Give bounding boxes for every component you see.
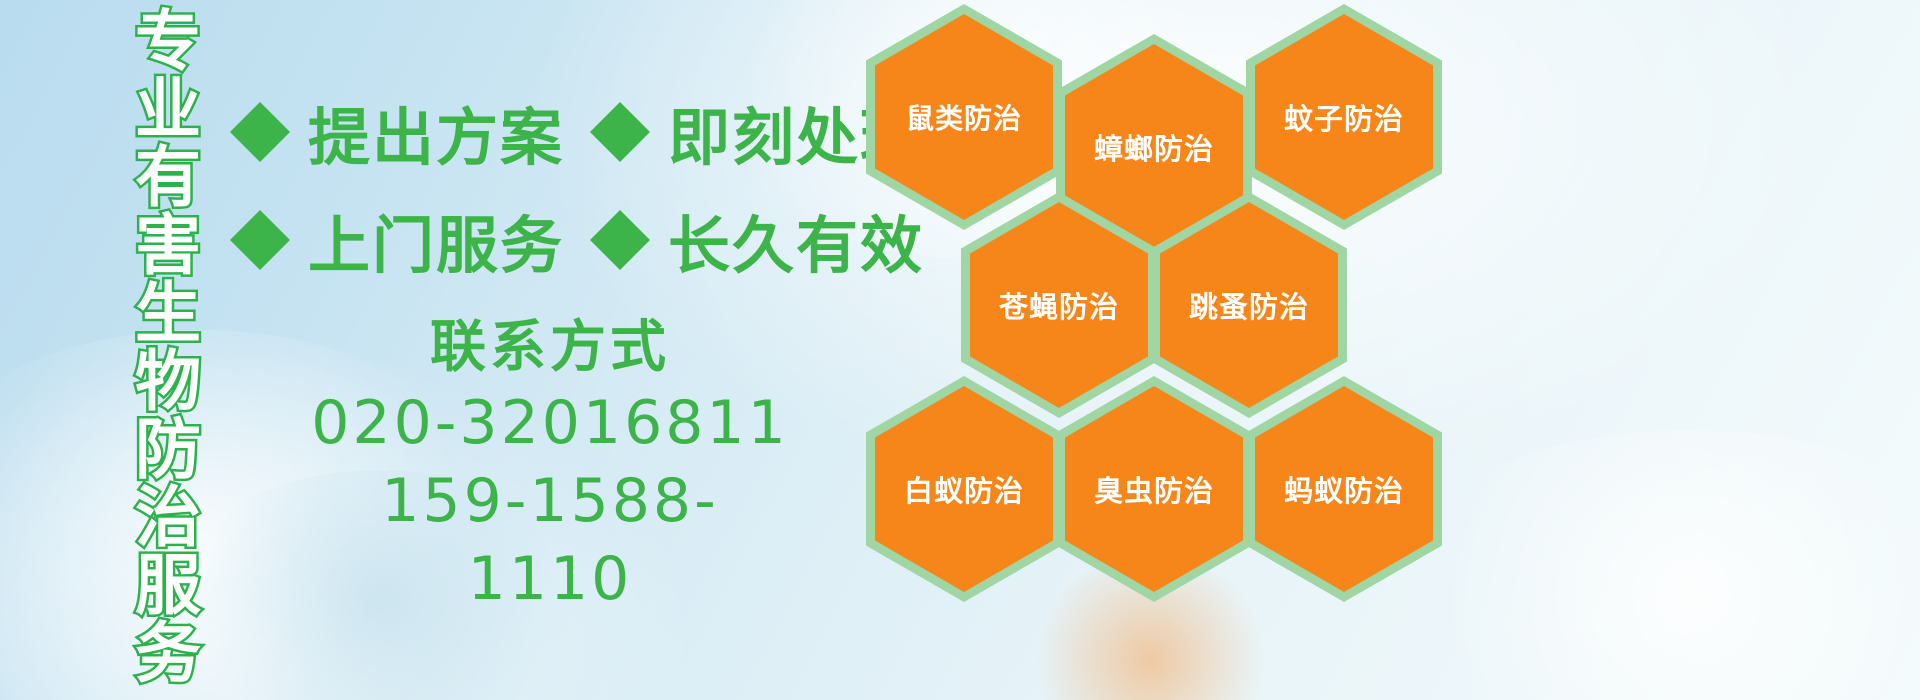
- headline-char: 务: [135, 620, 201, 688]
- hexagon-inner: 跳蚤防治: [1160, 202, 1338, 408]
- feature-label: 上门服务: [308, 195, 564, 285]
- service-hexagon-termite[interactable]: 白蚁防治: [866, 376, 1062, 602]
- contact-block: 联系方式 020-32016811 159-1588-1110: [300, 312, 800, 618]
- service-label: 臭虫防治: [1094, 468, 1214, 510]
- headline-char: 物: [135, 348, 201, 416]
- feature-item-onsite-service: 上门服务: [230, 195, 564, 285]
- headline-char: 治: [135, 484, 201, 552]
- phone-number-landline[interactable]: 020-32016811: [300, 384, 800, 462]
- feature-list: 提出方案 即刻处理 上门服务 长久有效: [230, 78, 924, 294]
- diamond-bullet-icon: [230, 180, 290, 240]
- vertical-headline: 专 业 有 害 生 物 防 治 服 务: [108, 8, 228, 688]
- headline-char: 生: [135, 280, 201, 348]
- phone-number-mobile[interactable]: 159-1588-1110: [300, 462, 800, 618]
- hexagon-inner: 蚊子防治: [1255, 14, 1433, 220]
- diamond-bullet-icon: [590, 72, 650, 132]
- service-label: 鼠类防治: [906, 97, 1022, 137]
- hexagon-inner: 蚂蚁防治: [1255, 386, 1433, 592]
- hexagon-inner: 臭虫防治: [1065, 386, 1243, 592]
- service-label: 蚊子防治: [1284, 96, 1404, 138]
- diamond-bullet-icon: [590, 180, 650, 240]
- headline-char: 专: [135, 8, 201, 76]
- headline-char: 防: [135, 416, 201, 484]
- hexagon-inner: 鼠类防治: [875, 14, 1053, 220]
- feature-row: 上门服务 长久有效: [230, 186, 924, 294]
- feature-label: 提出方案: [308, 87, 564, 177]
- service-hexagon-bedbug[interactable]: 臭虫防治: [1056, 376, 1252, 602]
- feature-row: 提出方案 即刻处理: [230, 78, 924, 186]
- service-label: 白蚁防治: [904, 468, 1024, 510]
- background-blob: [1380, 430, 1920, 700]
- headline-char: 服: [135, 552, 201, 620]
- service-hexagon-ant[interactable]: 蚂蚁防治: [1246, 376, 1442, 602]
- headline-char: 害: [135, 212, 201, 280]
- contact-heading: 联系方式: [300, 312, 800, 384]
- hexagon-inner: 苍蝇防治: [970, 202, 1148, 408]
- diamond-bullet-icon: [230, 72, 290, 132]
- service-label: 跳蚤防治: [1189, 284, 1309, 326]
- service-hexagon-mosquito[interactable]: 蚊子防治: [1246, 4, 1442, 230]
- service-label: 苍蝇防治: [999, 284, 1119, 326]
- hexagon-inner: 白蚁防治: [875, 386, 1053, 592]
- service-hexagon-grid: 鼠类防治 蟑螂防治 蚊子防治 苍蝇防治 跳蚤防治 白蚁防治: [858, 0, 1458, 554]
- headline-char: 有: [135, 144, 201, 212]
- headline-char: 业: [135, 76, 201, 144]
- service-label: 蚂蚁防治: [1284, 468, 1404, 510]
- service-hexagon-rodent[interactable]: 鼠类防治: [866, 4, 1062, 230]
- feature-item-propose-plan: 提出方案: [230, 87, 564, 177]
- service-label: 蟑螂防治: [1094, 126, 1214, 168]
- promo-banner: 专 业 有 害 生 物 防 治 服 务 提出方案 即刻处理 上门服务: [0, 0, 1920, 700]
